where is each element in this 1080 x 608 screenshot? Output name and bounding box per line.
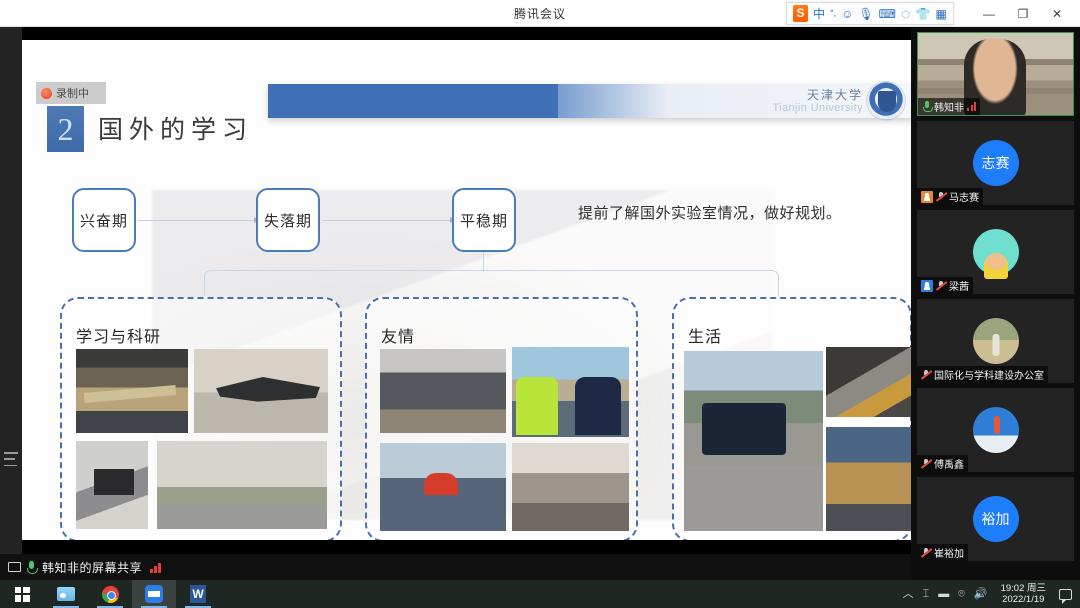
stage-chip-3: 平稳期 bbox=[452, 188, 516, 252]
ime-soft-keyboard-icon[interactable]: ⌨ bbox=[879, 8, 896, 20]
stage-connector-1 bbox=[138, 220, 258, 221]
slide-title: 国外的学习 bbox=[98, 110, 253, 146]
photo-group-outside-building bbox=[157, 441, 327, 529]
file-explorer-icon bbox=[57, 587, 75, 601]
start-button[interactable] bbox=[0, 580, 44, 608]
slide-note-text: 提前了解国外实验室情况，做好规划。 bbox=[578, 202, 878, 225]
monitor-icon bbox=[8, 562, 21, 572]
taskbar-chrome[interactable] bbox=[88, 580, 132, 608]
mic-on-icon bbox=[26, 561, 37, 574]
participant-name-bar: 韩知非 bbox=[918, 98, 980, 115]
university-branding: 天津大学 Tianjin University bbox=[772, 84, 863, 118]
mic-off-icon bbox=[936, 191, 946, 202]
shared-screen-area[interactable]: 天津大学 Tianjin University 2 国外的学习 兴奋期 失落期 … bbox=[22, 27, 911, 554]
participant-tile-6[interactable]: 裕加 崔裕加 bbox=[917, 477, 1074, 561]
participant-tile-5[interactable]: 傅禹鑫 bbox=[917, 388, 1074, 472]
maximize-button[interactable]: ❐ bbox=[1006, 0, 1040, 27]
word-icon bbox=[190, 585, 206, 603]
flow-stem bbox=[483, 252, 484, 272]
ime-emoji-icon[interactable]: ☺ bbox=[841, 8, 853, 20]
usb-icon[interactable]: ⌶ bbox=[923, 589, 930, 600]
window-controls: — ❐ ✕ bbox=[972, 0, 1074, 27]
wifi-icon[interactable]: ⌾ bbox=[958, 589, 965, 600]
stage-connector-2 bbox=[322, 220, 454, 221]
university-name-cn: 天津大学 bbox=[807, 89, 863, 102]
share-status-label: 韩知非的屏幕共享 bbox=[42, 559, 142, 576]
notification-icon[interactable] bbox=[1059, 589, 1072, 600]
participant-name: 韩知非 bbox=[934, 99, 964, 114]
participant-name: 傅禹鑫 bbox=[934, 456, 964, 471]
mic-on-icon bbox=[922, 101, 931, 112]
windows-logo-icon bbox=[15, 587, 30, 602]
photo-cathedral-square bbox=[826, 427, 911, 531]
host-badge-icon bbox=[921, 191, 933, 203]
avatar bbox=[973, 318, 1019, 364]
tray-chevron-up-icon[interactable]: ︿ bbox=[903, 589, 914, 600]
photo-aircraft bbox=[194, 349, 328, 433]
participant-name-bar: 梁茜 bbox=[917, 277, 973, 294]
participant-panel[interactable]: 韩知非 志赛 马志赛 梁茜 国际化与学科建设办公室 bbox=[911, 27, 1080, 580]
participant-tile-4[interactable]: 国际化与学科建设办公室 bbox=[917, 299, 1074, 383]
left-rail bbox=[0, 27, 22, 554]
mic-off-icon bbox=[921, 369, 931, 380]
photo-group-outdoors bbox=[380, 349, 506, 433]
list-menu-icon[interactable] bbox=[4, 452, 18, 466]
content-group-friendship: 友情 bbox=[365, 297, 638, 540]
taskbar-tencent-meeting[interactable] bbox=[132, 580, 176, 608]
participant-name: 马志赛 bbox=[949, 189, 979, 204]
slide-number: 2 bbox=[47, 106, 84, 152]
close-button[interactable]: ✕ bbox=[1040, 0, 1074, 27]
tencent-meeting-icon bbox=[145, 585, 163, 603]
signal-icon bbox=[150, 562, 161, 573]
group-title-study: 学习与科研 bbox=[76, 323, 161, 347]
group-title-life: 生活 bbox=[688, 323, 722, 347]
flow-bracket bbox=[204, 270, 779, 296]
photo-indoor-gathering bbox=[512, 443, 629, 531]
participant-tile-1[interactable]: 韩知非 bbox=[917, 32, 1074, 116]
photo-jeep-street bbox=[684, 351, 823, 531]
battery-icon[interactable]: ▬ bbox=[938, 589, 949, 600]
share-status-bar: 韩知非的屏幕共享 bbox=[0, 554, 911, 580]
photo-drinks-table bbox=[826, 347, 911, 417]
clock-time: 19:02 周三 bbox=[1001, 583, 1046, 594]
university-name-en: Tianjin University bbox=[772, 102, 863, 114]
clock[interactable]: 19:02 周三 2022/1/19 bbox=[1001, 583, 1046, 605]
minimize-button[interactable]: — bbox=[972, 0, 1006, 27]
clock-date: 2022/1/19 bbox=[1002, 594, 1044, 605]
recording-badge: 录制中 bbox=[36, 82, 106, 104]
recording-label: 录制中 bbox=[56, 85, 89, 101]
participant-name-bar: 国际化与学科建设办公室 bbox=[917, 366, 1048, 383]
photo-helmet-selfie bbox=[380, 443, 506, 531]
mic-off-icon bbox=[921, 458, 931, 469]
stage-chip-2: 失落期 bbox=[256, 188, 320, 252]
cohost-badge-icon bbox=[921, 280, 933, 292]
participant-name: 国际化与学科建设办公室 bbox=[934, 367, 1044, 382]
avatar: 裕加 bbox=[973, 496, 1019, 542]
photo-equipment bbox=[76, 441, 148, 529]
chrome-icon bbox=[102, 586, 119, 603]
windows-taskbar: ︿ ⌶ ▬ ⌾ 🔊 19:02 周三 2022/1/19 bbox=[0, 580, 1080, 608]
ime-toolbox-icon[interactable]: ⛭ bbox=[901, 8, 911, 20]
participant-tile-2[interactable]: 志赛 马志赛 bbox=[917, 121, 1074, 205]
participant-tile-3[interactable]: 梁茜 bbox=[917, 210, 1074, 294]
taskbar-file-explorer[interactable] bbox=[44, 580, 88, 608]
photo-two-runners-selfie bbox=[512, 347, 629, 437]
participant-name-bar: 傅禹鑫 bbox=[917, 455, 968, 472]
ime-chinese-mode-icon[interactable]: 中 bbox=[813, 8, 825, 20]
sogou-logo-icon[interactable]: S bbox=[793, 5, 808, 22]
participant-name-bar: 崔裕加 bbox=[917, 544, 968, 561]
ime-voice-mic-icon[interactable]: 🎙 bbox=[858, 8, 873, 20]
participant-name-bar: 马志赛 bbox=[917, 188, 983, 205]
avatar bbox=[973, 407, 1019, 453]
window-title-bar: 腾讯会议 S 中 °, ☺ 🎙 ⌨ ⛭ 👕 ▦ — ❐ ✕ bbox=[0, 0, 1080, 27]
mic-off-icon bbox=[936, 280, 946, 291]
recording-dot-icon bbox=[41, 88, 52, 99]
avatar bbox=[973, 229, 1019, 275]
avatar: 志赛 bbox=[973, 140, 1019, 186]
content-group-study: 学习与科研 bbox=[60, 297, 342, 540]
ime-apps-icon[interactable]: ▦ bbox=[936, 8, 947, 20]
photo-lab-bench bbox=[76, 349, 188, 433]
presentation-slide: 天津大学 Tianjin University 2 国外的学习 兴奋期 失落期 … bbox=[22, 40, 911, 540]
sogou-ime-toolbar[interactable]: S 中 °, ☺ 🎙 ⌨ ⛭ 👕 ▦ bbox=[786, 2, 954, 25]
stage-chip-1: 兴奋期 bbox=[72, 188, 136, 252]
ime-skin-icon[interactable]: 👕 bbox=[916, 8, 931, 20]
university-logo-icon bbox=[866, 81, 906, 121]
volume-icon[interactable]: 🔊 bbox=[974, 589, 988, 600]
meeting-window: 天津大学 Tianjin University 2 国外的学习 兴奋期 失落期 … bbox=[0, 27, 1080, 580]
mic-off-icon bbox=[921, 547, 931, 558]
content-group-life: 生活 bbox=[672, 297, 911, 540]
participant-name: 梁茜 bbox=[949, 278, 969, 293]
group-title-friendship: 友情 bbox=[381, 323, 415, 347]
system-tray: ︿ ⌶ ▬ ⌾ 🔊 19:02 周三 2022/1/19 bbox=[903, 580, 1080, 608]
signal-icon bbox=[967, 102, 976, 111]
ime-punctuation-icon[interactable]: °, bbox=[830, 9, 836, 18]
taskbar-word[interactable] bbox=[176, 580, 220, 608]
participant-name: 崔裕加 bbox=[934, 545, 964, 560]
slide-header-band-solid bbox=[268, 84, 558, 118]
